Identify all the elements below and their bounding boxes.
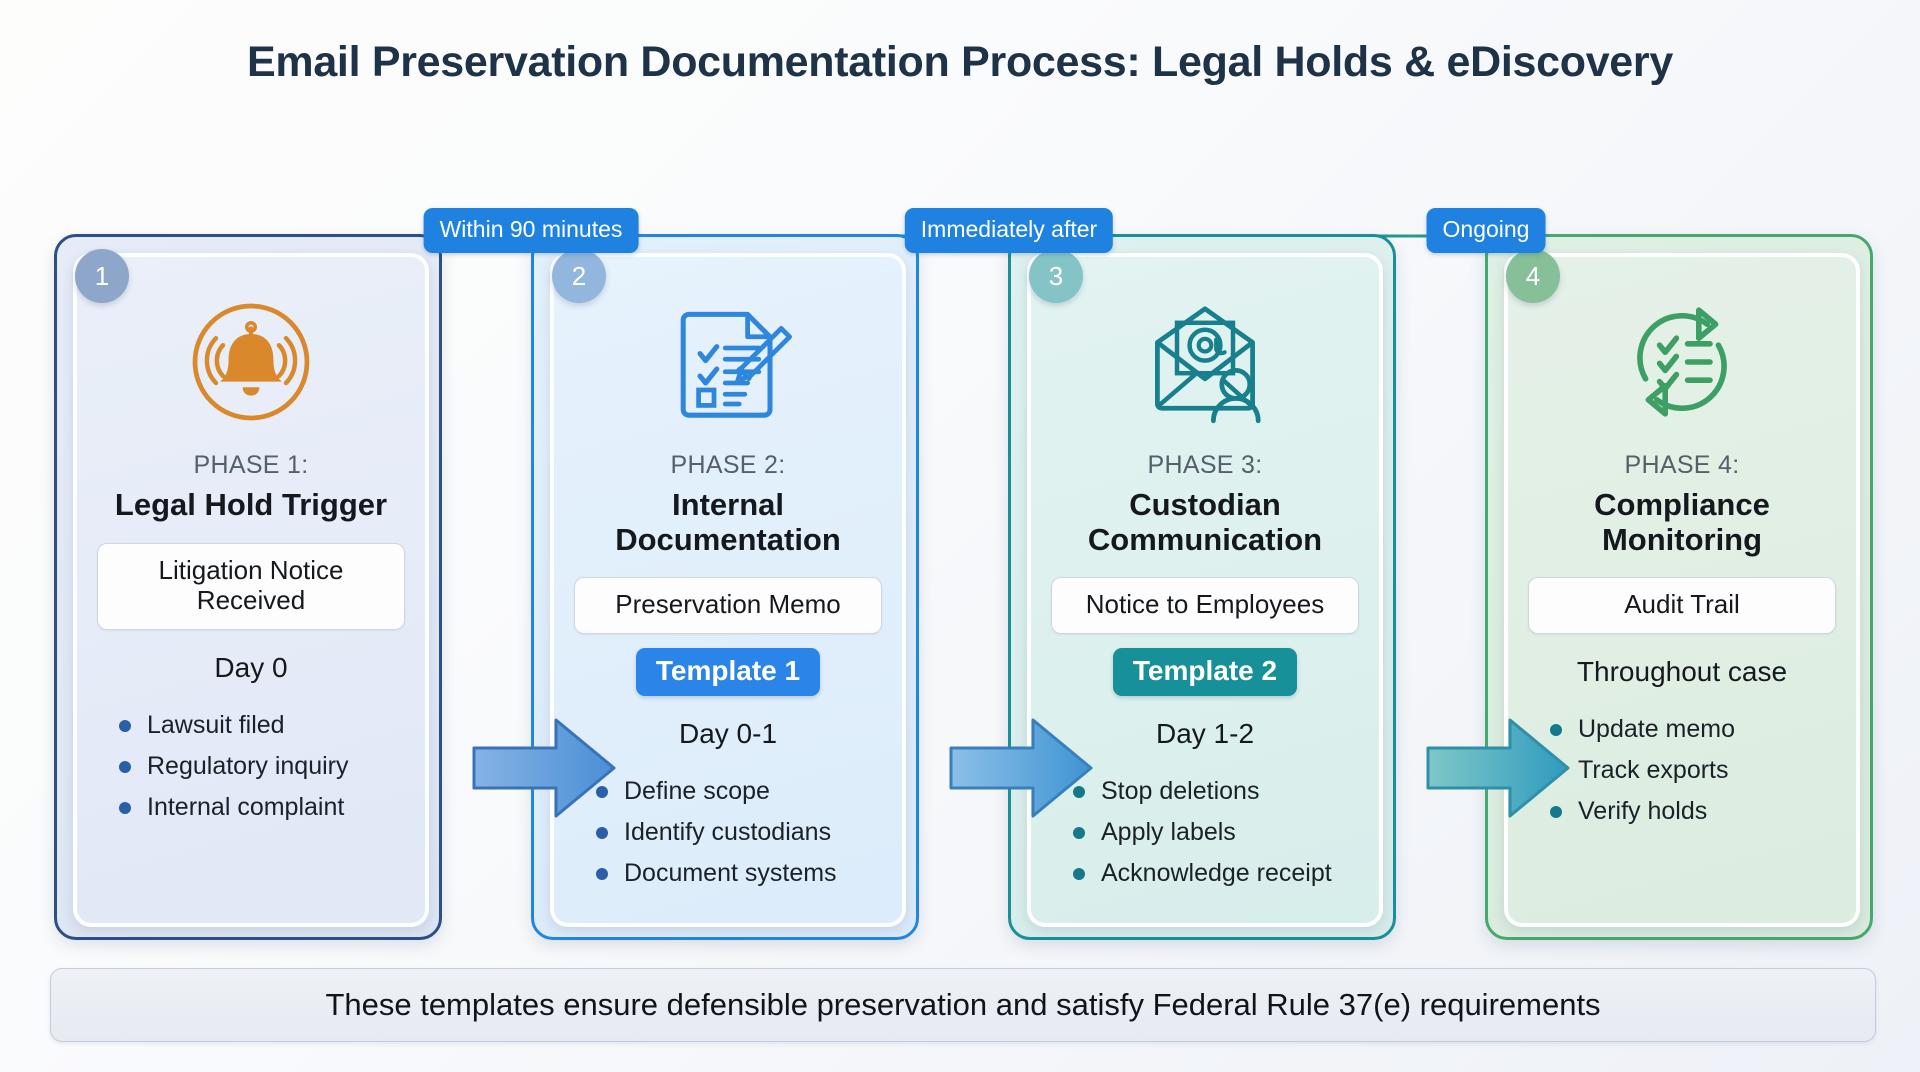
list-item: Lawsuit filed <box>117 708 405 742</box>
phase-timing-4: Throughout case <box>1577 656 1787 688</box>
phase-document-3: Notice to Employees <box>1051 577 1359 634</box>
page-title: Email Preservation Documentation Process… <box>0 38 1920 87</box>
phase-bullets-2: Define scope Identify custodians Documen… <box>574 774 882 897</box>
phase-number-badge-4: 4 <box>1506 249 1560 303</box>
phase-bullets-1: Lawsuit filed Regulatory inquiry Interna… <box>97 708 405 831</box>
list-item: Regulatory inquiry <box>117 749 405 783</box>
phase-timing-1: Day 0 <box>214 652 287 684</box>
email-custodian-icon <box>1135 283 1275 441</box>
flow-arrow-1 <box>470 708 620 828</box>
phase-kicker-3: PHASE 3: <box>1148 451 1263 480</box>
phase-bullets-3: Stop deletions Apply labels Acknowledge … <box>1051 774 1359 897</box>
list-item: Update memo <box>1548 712 1836 746</box>
phase-card-3[interactable]: 3 PHASE 3: Custodian Communication Notic… <box>1008 234 1396 940</box>
phase-kicker-2: PHASE 2: <box>671 451 786 480</box>
template-badge-1[interactable]: Template 1 <box>636 648 820 696</box>
phase-document-2: Preservation Memo <box>574 577 882 634</box>
phase-timing-3: Day 1-2 <box>1156 718 1254 750</box>
list-item: Document systems <box>594 856 882 890</box>
list-item: Define scope <box>594 774 882 808</box>
phase-kicker-1: PHASE 1: <box>194 451 309 480</box>
timeline-label-2: Immediately after <box>905 208 1113 253</box>
phase-title-1: Legal Hold Trigger <box>115 488 387 523</box>
list-item: Identify custodians <box>594 815 882 849</box>
phase-card-4[interactable]: 4 PHASE 4: Compliance Monitoring Audit T… <box>1485 234 1873 940</box>
timeline-label-1: Within 90 minutes <box>424 208 639 253</box>
phase-bullets-4: Update memo Track exports Verify holds <box>1528 712 1836 835</box>
list-item: Track exports <box>1548 753 1836 787</box>
footer-note: These templates ensure defensible preser… <box>50 968 1876 1042</box>
phase-document-4: Audit Trail <box>1528 577 1836 634</box>
flow-arrow-3 <box>1424 708 1574 828</box>
phase-number-badge-1: 1 <box>75 249 129 303</box>
list-item: Stop deletions <box>1071 774 1359 808</box>
flow-arrow-2 <box>947 708 1097 828</box>
list-item: Internal complaint <box>117 790 405 824</box>
phase-number-badge-3: 3 <box>1029 249 1083 303</box>
phase-kicker-4: PHASE 4: <box>1625 451 1740 480</box>
phase-card-1-inner: PHASE 1: Legal Hold Trigger Litigation N… <box>73 253 429 927</box>
phase-title-3: Custodian Communication <box>1051 488 1359 557</box>
cycle-checklist-icon <box>1612 283 1752 441</box>
phase-card-1[interactable]: 1 PHASE 1: Legal Hold Trigger Litigation… <box>54 234 442 940</box>
bell-icon <box>181 283 321 441</box>
list-item: Verify holds <box>1548 794 1836 828</box>
phase-card-2[interactable]: 2 PHASE 2: Internal Documentation P <box>531 234 919 940</box>
list-item: Apply labels <box>1071 815 1359 849</box>
phase-document-1: Litigation Notice Received <box>97 543 405 630</box>
phase-title-4: Compliance Monitoring <box>1528 488 1836 557</box>
process-flow-diagram: Within 90 minutes Immediately after Ongo… <box>54 208 1872 940</box>
timeline-label-3: Ongoing <box>1427 208 1546 253</box>
template-badge-2[interactable]: Template 2 <box>1113 648 1297 696</box>
phase-timing-2: Day 0-1 <box>679 718 777 750</box>
document-checklist-pencil-icon <box>658 283 798 441</box>
phase-title-2: Internal Documentation <box>574 488 882 557</box>
phase-number-badge-2: 2 <box>552 249 606 303</box>
list-item: Acknowledge receipt <box>1071 856 1359 890</box>
